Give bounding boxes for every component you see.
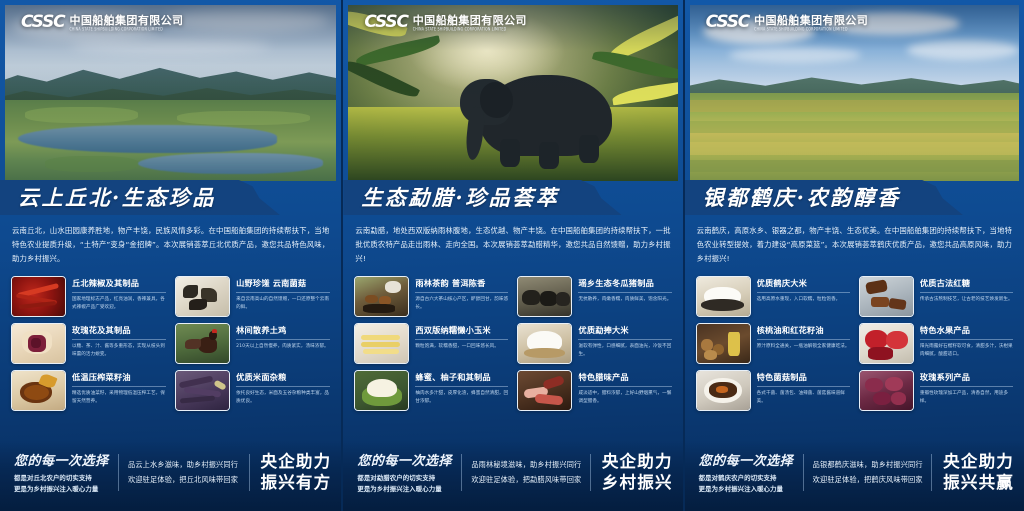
product-title: 玫瑰系列产品 [920, 371, 1013, 387]
footer-divider-2 [249, 454, 250, 491]
footer-line-1: 品雨林秘境滋味，助乡村振兴同行 [471, 458, 581, 473]
product-title: 林间散养土鸡 [236, 324, 330, 340]
product-thumb-white-rice [517, 323, 572, 364]
panel-title: 生态勐腊·珍品荟萃 [361, 182, 559, 212]
logo-name-cn: 中国船舶集团有限公司 [69, 15, 183, 26]
product-thumb-rapeseed-oil [11, 370, 66, 411]
footer-line-1: 品云上水乡滋味，助乡村振兴同行 [128, 458, 240, 473]
product-desc: 各式干菌、菌汤包、油辣菌、菌菇酱味道鲜美。 [757, 390, 850, 406]
product-thumb-pomelo-honey [354, 370, 409, 411]
product-title: 瑶乡生态冬瓜猪制品 [578, 277, 671, 293]
footer-slogan-2: 乡村振兴 [602, 473, 673, 494]
product-thumb-sticky-corn [354, 323, 409, 364]
panel-intro: 云南丘北，山水田园康养胜地，物产丰饶，民族风情多彩。在中国船舶集团的持续帮扶下，… [12, 224, 329, 267]
product-title: 山野珍馐 云南菌菇 [236, 277, 330, 293]
product-title: 玫瑰花及其制品 [72, 324, 166, 340]
logo-name-cn: 中国船舶集团有限公司 [754, 15, 868, 26]
product-title: 优质鹤庆大米 [757, 277, 850, 293]
footer-script-line: 您的每一次选择 [699, 450, 788, 469]
product-thumb-pomegranate [859, 323, 914, 364]
product-title: 特色水果产品 [920, 324, 1013, 340]
footer-divider-1 [461, 454, 462, 491]
title-band-qiubei: 云上丘北·生态珍品 [0, 180, 341, 215]
product-thumb-cured-meat [517, 370, 572, 411]
poster-root: CSSC 中国船舶集团有限公司 CHINA STATE SHIPBUILDING… [0, 0, 1024, 511]
footer-slogan-2: 振兴共赢 [943, 473, 1014, 494]
panel-title: 云上丘北·生态珍品 [18, 182, 216, 212]
footer-divider-1 [118, 454, 119, 491]
logo-name-cn: 中国船舶集团有限公司 [413, 15, 527, 26]
product-desc: 源自古六大茶山核心产区，酽醇回甘，韵味悠长。 [415, 296, 508, 312]
product-card[interactable]: 核桃油和红花籽油 原汁原料全通关，一瓶油解锁全家健康吃法。 [696, 323, 850, 364]
product-desc: 重瓣性玫瑰深加工产品，清香自然，用途多样。 [920, 390, 1013, 406]
product-grid-mengla: 雨林茶韵 普洱陈香 源自古六大茶山核心产区，酽醇回甘，韵味悠长。 瑶乡生态冬瓜猪… [354, 276, 671, 411]
footer-line-2: 欢迎驻足体验，把鹤庆风味带回家 [813, 473, 923, 488]
panel-heqing: CSSC 中国船舶集团有限公司 CHINA STATE SHIPBUILDING… [683, 0, 1024, 511]
product-card[interactable]: 优质米面杂粮 依托良好生态，米面及五谷杂粮种类丰富，品质优良。 [175, 370, 330, 411]
hero-image-heqing: CSSC 中国船舶集团有限公司 CHINA STATE SHIPBUILDING… [690, 5, 1019, 181]
logo-mark: CSSC [364, 14, 407, 31]
product-thumb-rose-pastry [11, 323, 66, 364]
panel-qiubei: CSSC 中国船舶集团有限公司 CHINA STATE SHIPBUILDING… [0, 0, 341, 511]
product-grid-qiubei: 丘北辣椒及其制品 国家地理标志产品，红亮油润，香辣兼具，各式辣椒产品广受欢迎。 … [11, 276, 330, 411]
footer-sub-2: 更是为乡村振兴注入暖心力量 [14, 484, 103, 495]
logo-name-en: CHINA STATE SHIPBUILDING CORPORATION LIM… [413, 28, 527, 32]
product-thumb-walnut-oil [696, 323, 751, 364]
product-title: 特色菌菇制品 [757, 371, 850, 387]
product-desc: 颗粒饱满，软糯香甜，一口回味悠长风。 [415, 343, 508, 351]
product-thumb-dried-rose [859, 370, 914, 411]
footer-sub-2: 更是为乡村振兴注入暖心力量 [357, 484, 446, 495]
product-thumb-purple-corn [175, 370, 230, 411]
footer-script-line: 您的每一次选择 [14, 450, 103, 469]
panel-intro: 云南勐腊，地处西双版纳雨林腹地，生态优越、物产丰饶。在中国船舶集团的持续帮扶下，… [355, 224, 670, 267]
product-title: 丘北辣椒及其制品 [72, 277, 166, 293]
product-card[interactable]: 山野珍馐 云南菌菇 来自云南高山的自然馈赠，一口还原整个云南的鲜。 [175, 276, 330, 317]
product-thumb-brown-sugar [859, 276, 914, 317]
footer-line-2: 欢迎驻足体验，把丘北风味带回家 [128, 473, 240, 488]
product-desc: 咸淡适中，腊料浓郁，上好山野烟熏气，一懈调型腊香。 [578, 390, 671, 406]
product-card[interactable]: 低温压榨菜籽油 精选优质油菜籽，采用物理低温压榨工艺，保留天然营养。 [11, 370, 166, 411]
footer-slogan-1: 央企助力 [943, 452, 1014, 473]
product-desc: 传承古法熬制技艺，让古老的技艺焕发新生。 [920, 296, 1013, 304]
product-title: 核桃油和红花籽油 [757, 324, 850, 340]
footer-heqing: 您的每一次选择 都是对鹤庆农户的切实支持 更是为乡村振兴注入暖心力量 品银都鹤庆… [685, 440, 1024, 511]
panel-title: 银都鹤庆·农韵醇香 [703, 182, 901, 212]
footer-slogan-1: 央企助力 [602, 452, 673, 473]
footer-mengla: 您的每一次选择 都是对勐腊农户的切实支持 更是为乡村振兴注入暖心力量 品雨林秘境… [343, 440, 682, 511]
product-desc: 选用高原水重现，入口软糯，粒粒饱香。 [757, 296, 850, 304]
footer-qiubei: 您的每一次选择 都是对丘北农户的切实支持 更是为乡村振兴注入暖心力量 品云上水乡… [0, 440, 341, 511]
footer-line-1: 品银都鹤庆滋味，助乡村振兴同行 [813, 458, 923, 473]
product-desc: 柚肉水多汁甜，皮厚化渣，蜂蜜自然清甜，回甘浓郁。 [415, 390, 508, 406]
product-card[interactable]: 特色菌菇制品 各式干菌、菌汤包、油辣菌、菌菇酱味道鲜美。 [696, 370, 850, 411]
cssc-logo: CSSC 中国船舶集团有限公司 CHINA STATE SHIPBUILDING… [21, 14, 183, 31]
product-thumb-heqing-rice [696, 276, 751, 317]
product-desc: 210天以上自然慢养，肉质紧实，汤味浓郁。 [236, 343, 330, 351]
product-title: 雨林茶韵 普洱陈香 [415, 277, 508, 293]
footer-sub-2: 更是为乡村振兴注入暖心力量 [699, 484, 788, 495]
logo-mark: CSSC [706, 14, 749, 31]
product-card[interactable]: 雨林茶韵 普洱陈香 源自古六大茶山核心产区，酽醇回甘，韵味悠长。 [354, 276, 508, 317]
footer-slogan-2: 振兴有方 [261, 473, 332, 494]
product-title: 优质勐捧大米 [578, 324, 671, 340]
product-card[interactable]: 玫瑰系列产品 重瓣性玫瑰深加工产品，清香自然，用途多样。 [859, 370, 1013, 411]
footer-script-line: 您的每一次选择 [357, 450, 446, 469]
logo-mark: CSSC [21, 14, 64, 31]
product-card[interactable]: 林间散养土鸡 210天以上自然慢养，肉质紧实，汤味浓郁。 [175, 323, 330, 364]
footer-divider-1 [803, 454, 804, 491]
product-desc: 国家地理标志产品，红亮油润，香辣兼具，各式辣椒产品广受欢迎。 [72, 296, 166, 312]
product-desc: 以糖、茶、汁、酱等多重形态，实现从枝头到味蕾的活力蜕变。 [72, 343, 166, 359]
logo-name-en: CHINA STATE SHIPBUILDING CORPORATION LIM… [69, 28, 183, 32]
cssc-logo: CSSC 中国船舶集团有限公司 CHINA STATE SHIPBUILDING… [706, 14, 868, 31]
logo-name-en: CHINA STATE SHIPBUILDING CORPORATION LIM… [754, 28, 868, 32]
footer-line-2: 欢迎驻足体验，把勐腊风味带回家 [471, 473, 581, 488]
footer-sub-1: 都是对勐腊农户的切实支持 [357, 473, 446, 484]
product-thumb-dried-mushroom [175, 276, 230, 317]
product-title: 特色腊味产品 [578, 371, 671, 387]
title-band-heqing: 银都鹤庆·农韵醇香 [685, 180, 1024, 215]
product-title: 西双版纳糯懒小玉米 [415, 324, 508, 340]
product-card[interactable]: 丘北辣椒及其制品 国家地理标志产品，红亮油润，香辣兼具，各式辣椒产品广受欢迎。 [11, 276, 166, 317]
product-thumb-mushroom-dish [696, 370, 751, 411]
product-grid-heqing: 优质鹤庆大米 选用高原水重现，入口软糯，粒粒饱香。 优质古法红糖 传承古法熬制技… [696, 276, 1013, 411]
product-card[interactable]: 瑶乡生态冬瓜猪制品 无抗散养，肉嫩香糯，肉质鲜美，饱含阳光。 [517, 276, 671, 317]
product-desc: 精选优质油菜籽，采用物理低温压榨工艺，保留天然营养。 [72, 390, 166, 406]
product-title: 低温压榨菜籽油 [72, 371, 166, 387]
footer-slogan-1: 央企助力 [261, 452, 332, 473]
product-thumb-black-pig [517, 276, 572, 317]
product-thumb-dried-chili [11, 276, 66, 317]
footer-divider-2 [931, 454, 932, 491]
product-card[interactable]: 特色水果产品 阳光雨露好石榴籽软可食，清甜多汁，沃柑果肉细腻，酸甜适口。 [859, 323, 1013, 364]
product-thumb-free-range-chicken [175, 323, 230, 364]
product-desc: 无抗散养，肉嫩香糯，肉质鲜美，饱含阳光。 [578, 296, 671, 304]
cssc-logo: CSSC 中国船舶集团有限公司 CHINA STATE SHIPBUILDING… [364, 14, 526, 31]
hero-image-mengla: CSSC 中国船舶集团有限公司 CHINA STATE SHIPBUILDING… [348, 5, 677, 181]
product-thumb-puer-tea [354, 276, 409, 317]
product-desc: 依托良好生态，米面及五谷杂粮种类丰富，品质优良。 [236, 390, 330, 406]
panel-mengla: CSSC 中国船舶集团有限公司 CHINA STATE SHIPBUILDING… [341, 0, 682, 511]
product-desc: 阳光雨露好石榴籽软可食，清甜多汁，沃柑果肉细腻，酸甜适口。 [920, 343, 1013, 359]
product-card[interactable]: 优质鹤庆大米 选用高原水重现，入口软糯，粒粒饱香。 [696, 276, 850, 317]
footer-sub-1: 都是对丘北农户的切实支持 [14, 473, 103, 484]
product-card[interactable]: 蜂蜜、柚子和其制品 柚肉水多汁甜，皮厚化渣，蜂蜜自然清甜，回甘浓郁。 [354, 370, 508, 411]
title-band-mengla: 生态勐腊·珍品荟萃 [343, 180, 682, 215]
product-desc: 来自云南高山的自然馈赠，一口还原整个云南的鲜。 [236, 296, 330, 312]
product-desc: 原汁原料全通关，一瓶油解锁全家健康吃法。 [757, 343, 850, 351]
product-title: 优质米面杂粮 [236, 371, 330, 387]
footer-sub-1: 都是对鹤庆农户的切实支持 [699, 473, 788, 484]
product-card[interactable]: 优质勐捧大米 滋软有弹性，口感细腻，表面油光，冷饭不回生。 [517, 323, 671, 364]
product-card[interactable]: 特色腊味产品 咸淡适中，腊料浓郁，上好山野烟熏气，一懈调型腊香。 [517, 370, 671, 411]
product-desc: 滋软有弹性，口感细腻，表面油光，冷饭不回生。 [578, 343, 671, 359]
product-card[interactable]: 优质古法红糖 传承古法熬制技艺，让古老的技艺焕发新生。 [859, 276, 1013, 317]
product-card[interactable]: 玫瑰花及其制品 以糖、茶、汁、酱等多重形态，实现从枝头到味蕾的活力蜕变。 [11, 323, 166, 364]
panel-intro: 云南鹤庆，高原水乡、银器之都，物产丰饶、生态优美。在中国船舶集团的持续帮扶下，当… [697, 224, 1012, 267]
product-card[interactable]: 西双版纳糯懒小玉米 颗粒饱满，软糯香甜，一口回味悠长风。 [354, 323, 508, 364]
product-title: 优质古法红糖 [920, 277, 1013, 293]
footer-divider-2 [590, 454, 591, 491]
product-title: 蜂蜜、柚子和其制品 [415, 371, 508, 387]
hero-image-qiubei: CSSC 中国船舶集团有限公司 CHINA STATE SHIPBUILDING… [5, 5, 336, 181]
